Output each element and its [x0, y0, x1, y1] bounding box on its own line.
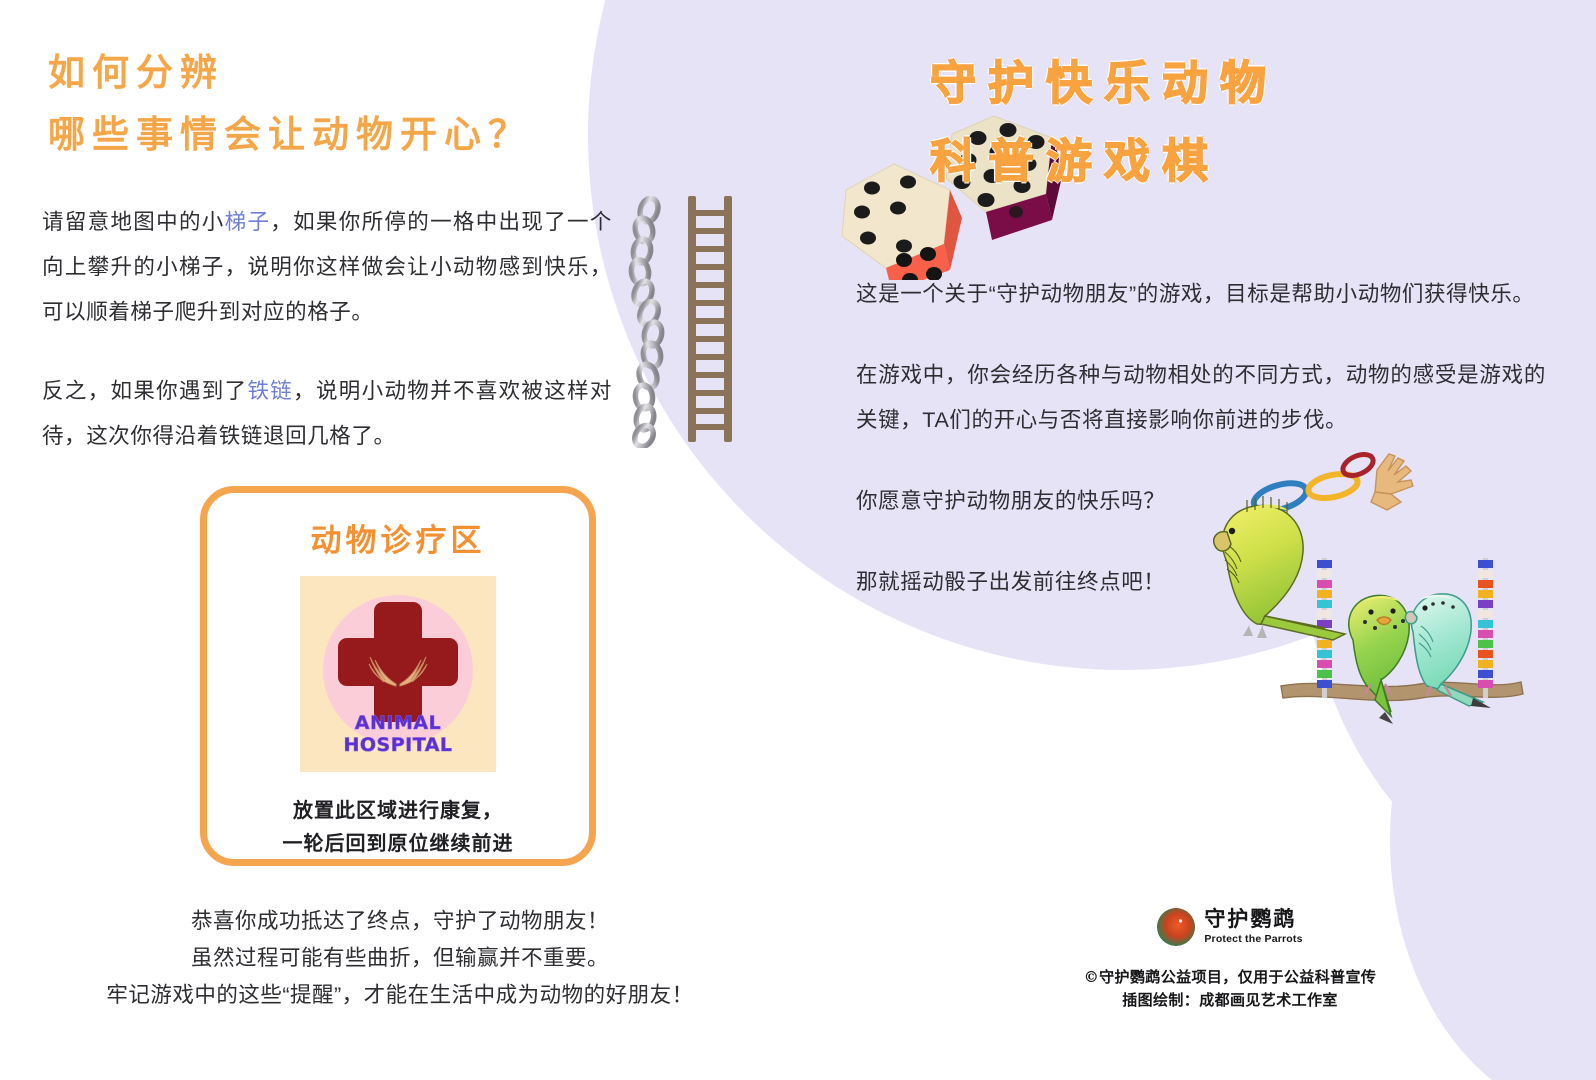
footer-copyright: ©守护鹦鹉公益项目，仅用于公益科普宣传 插图绘制：成都画见艺术工作室 — [1020, 966, 1440, 1012]
poster-page: 如何分辨 哪些事情会让动物开心？ 请留意地图中的小梯子，如果你所停的一格中出现了… — [0, 0, 1596, 1080]
left-heading: 如何分辨 哪些事情会让动物开心？ — [48, 42, 668, 166]
ladder-keyword: 梯子 — [225, 210, 271, 234]
chain-keyword: 铁链 — [247, 379, 293, 403]
animal-hospital-card: 动物诊疗区 ANIMAL HOSPITAL 放置此区域进行康复， 一轮后回到原位… — [200, 486, 596, 866]
right-paragraph-1: 这是一个关于“守护动物朋友”的游戏，目标是帮助小动物们获得快乐。 — [856, 272, 1546, 317]
left-heading-line-2: 哪些事情会让动物开心？ — [48, 104, 668, 166]
para2-before: 反之，如果你遇到了 — [42, 379, 247, 403]
poster-title: 守护快乐动物 科普游戏棋 — [930, 44, 1570, 200]
footer-brand-names: 守护鹦鹉 Protect the Parrots — [1204, 909, 1302, 945]
left-paragraph-chain: 反之，如果你遇到了铁链，说明小动物并不喜欢被这样对待，这次你得沿着铁链退回几格了… — [42, 369, 612, 459]
parrot-logo-icon — [1157, 908, 1195, 946]
right-paragraph-2: 在游戏中，你会经历各种与动物相处的不同方式，动物的感受是游戏的关键，TA们的开心… — [856, 353, 1546, 443]
footer: 守护鹦鹉 Protect the Parrots ©守护鹦鹉公益项目，仅用于公益… — [1020, 908, 1440, 1012]
poster-title-line-1: 守护快乐动物 — [930, 44, 1570, 122]
left-heading-line-1: 如何分辨 — [48, 42, 668, 104]
hospital-logo-text: ANIMAL HOSPITAL — [300, 712, 496, 756]
closing-text: 恭喜你成功抵达了终点，守护了动物朋友！ 虽然过程可能有些曲折，但输赢并不重要。 … — [40, 903, 760, 1014]
hospital-note-line-1: 放置此区域进行康复， — [207, 794, 589, 827]
para1-before: 请留意地图中的小 — [42, 210, 225, 234]
closing-line-3: 牢记游戏中的这些“提醒”，才能在生活中成为动物的好朋友！ — [40, 977, 760, 1014]
footer-copyright-line-2: 插图绘制：成都画见艺术工作室 — [1020, 989, 1440, 1012]
footer-copyright-line-1: ©守护鹦鹉公益项目，仅用于公益科普宣传 — [1020, 966, 1440, 989]
hospital-card-note: 放置此区域进行康复， 一轮后回到原位继续前进 — [207, 794, 589, 860]
hospital-note-line-2: 一轮后回到原位继续前进 — [207, 827, 589, 860]
footer-brand-cn: 守护鹦鹉 — [1204, 909, 1302, 930]
right-paragraph-3: 你愿意守护动物朋友的快乐吗？ — [856, 479, 1546, 524]
chain-icon — [618, 196, 678, 448]
footer-brand: 守护鹦鹉 Protect the Parrots — [1020, 908, 1440, 946]
right-paragraph-4: 那就摇动骰子出发前往终点吧！ — [856, 560, 1546, 605]
closing-line-1: 恭喜你成功抵达了终点，守护了动物朋友！ — [40, 903, 760, 940]
hospital-card-title: 动物诊疗区 — [207, 515, 589, 560]
ladder-icon — [684, 196, 736, 442]
closing-line-2: 虽然过程可能有些曲折，但输赢并不重要。 — [40, 940, 760, 977]
hospital-logo: ANIMAL HOSPITAL — [300, 576, 496, 772]
poster-title-line-2: 科普游戏棋 — [930, 122, 1570, 200]
left-body-text: 请留意地图中的小梯子，如果你所停的一格中出现了一个向上攀升的小梯子，说明你这样做… — [42, 200, 612, 493]
footer-brand-en: Protect the Parrots — [1204, 934, 1302, 945]
left-paragraph-ladder: 请留意地图中的小梯子，如果你所停的一格中出现了一个向上攀升的小梯子，说明你这样做… — [42, 200, 612, 335]
right-body-text: 这是一个关于“守护动物朋友”的游戏，目标是帮助小动物们获得快乐。 在游戏中，你会… — [856, 272, 1546, 641]
wings-icon — [359, 654, 437, 690]
